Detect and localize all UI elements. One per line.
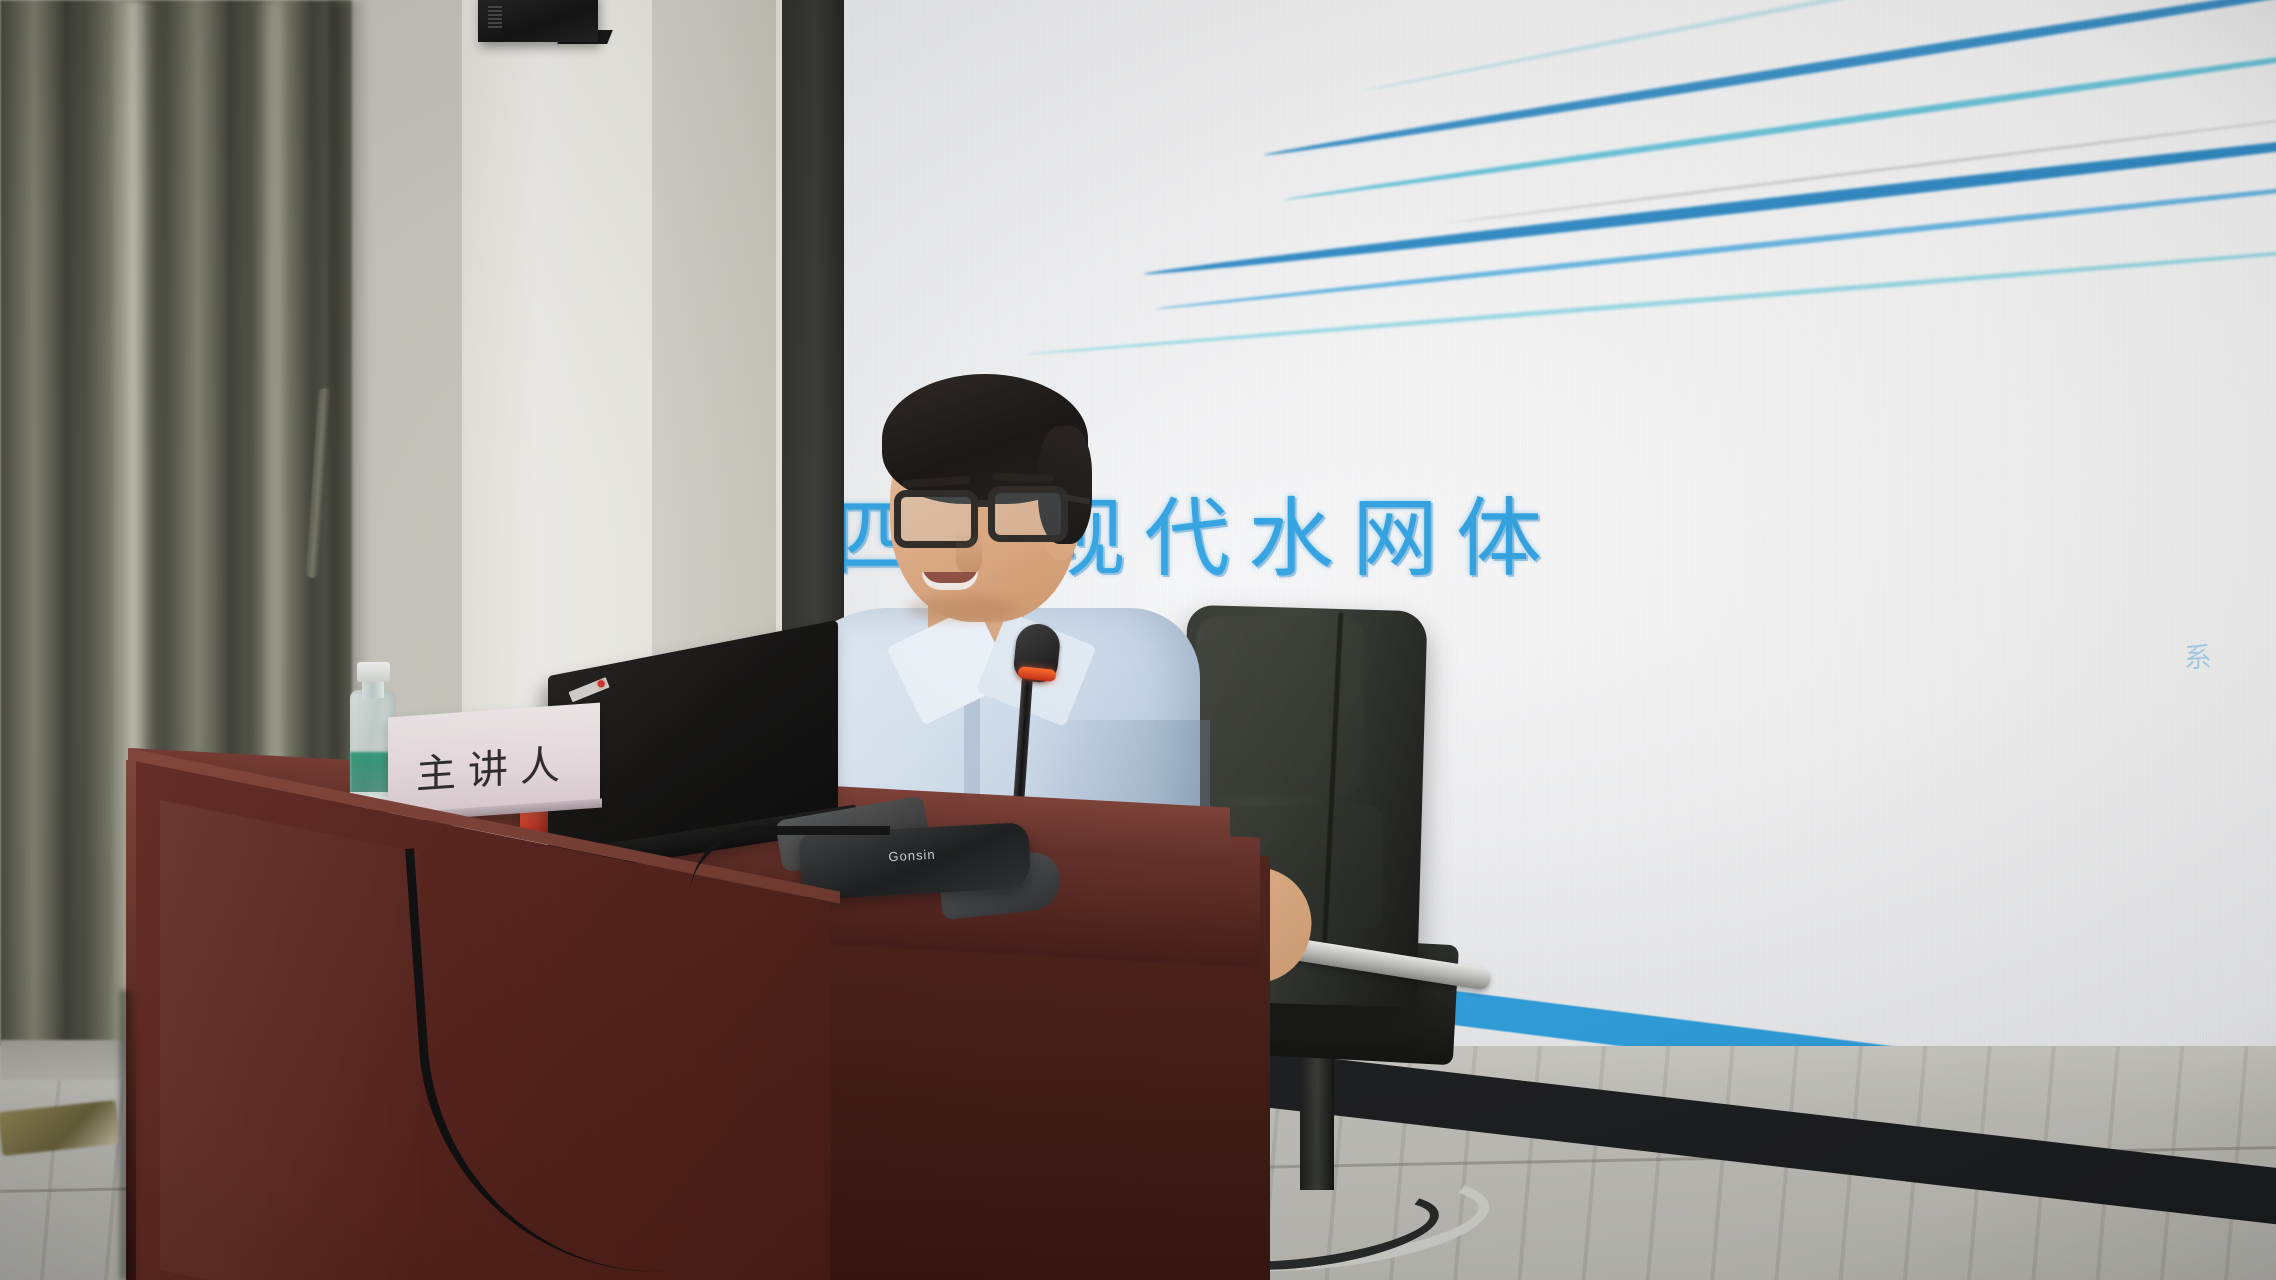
podium-left-shadow (120, 990, 138, 1280)
water-bottle-cap (357, 662, 390, 682)
presentation-photo-scene: 建四川现代水网体 系 (0, 0, 2276, 1280)
chair-column (1300, 1040, 1334, 1190)
podium-front-sheen (160, 800, 420, 1280)
glasses-bridge (972, 500, 994, 507)
speaker-nose (956, 530, 982, 574)
glasses-lens-right (988, 486, 1068, 542)
speaker-chin-shadow (908, 596, 1018, 622)
speaker-grille (488, 6, 502, 28)
nameplate-label: 主讲人 (416, 732, 572, 801)
slide-title-overflow: 系 (2184, 636, 2220, 676)
